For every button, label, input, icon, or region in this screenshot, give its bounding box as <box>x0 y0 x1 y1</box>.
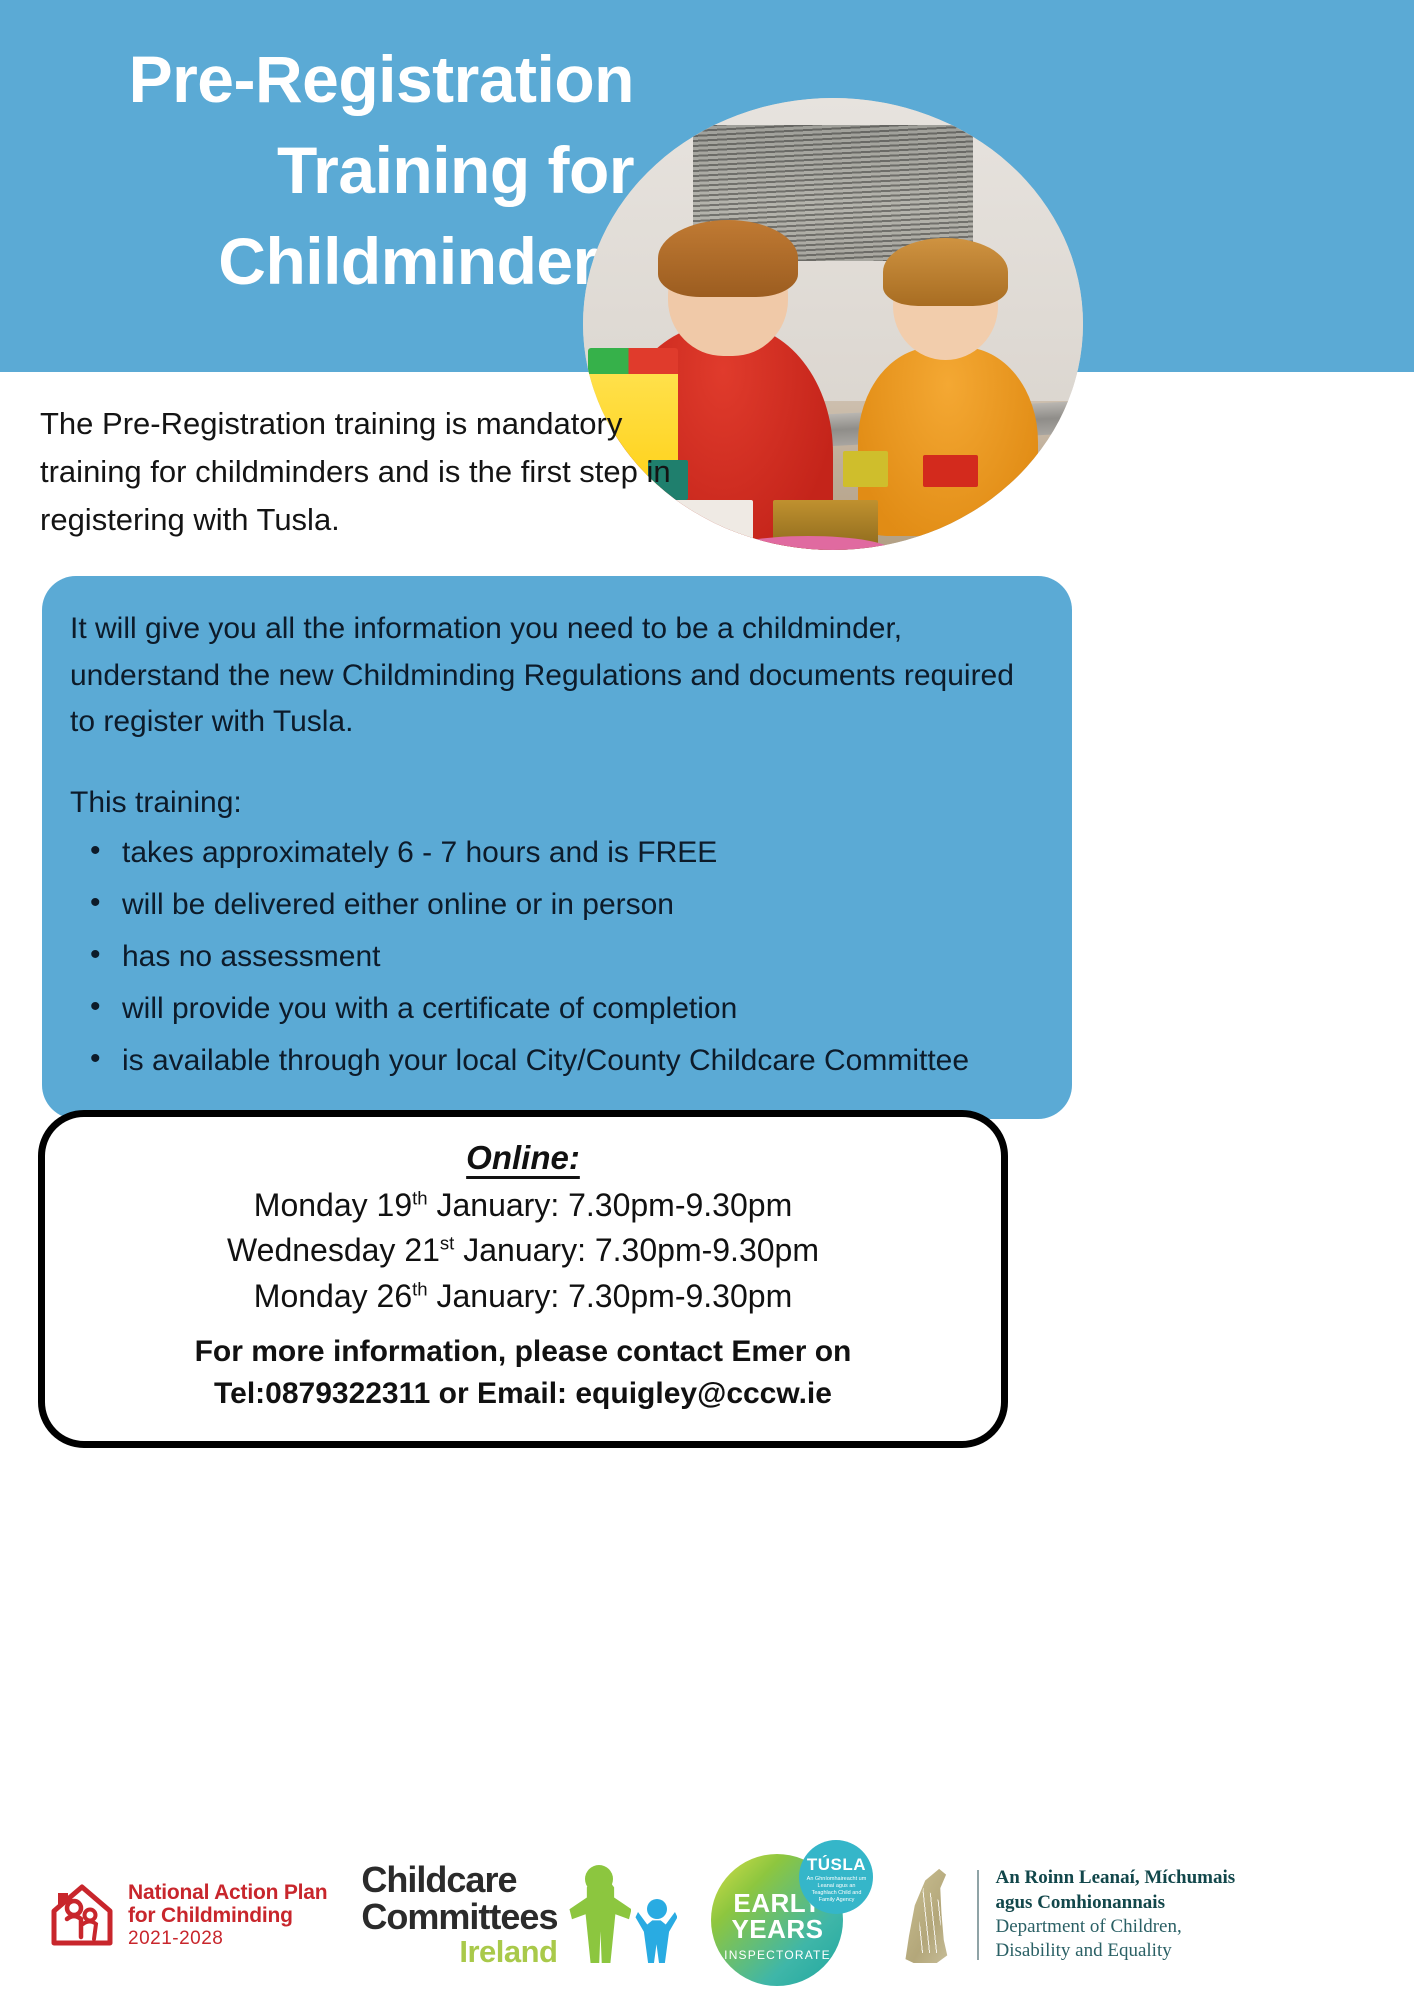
session-time: 7.30pm-9.30pm <box>595 1232 819 1268</box>
contact-instruction: For more information, please contact Eme… <box>75 1331 971 1373</box>
session-day: Wednesday <box>227 1232 395 1268</box>
irish-harp-icon <box>905 1867 963 1963</box>
gov-line-1: An Roinn Leanaí, Míchumais <box>995 1866 1235 1890</box>
schedule-heading: Online: <box>75 1139 971 1177</box>
page-title-line-1: Pre-Registration <box>24 34 634 125</box>
session-ordinal: th <box>412 1278 427 1299</box>
page-title: Pre-Registration Training for Childminde… <box>24 34 634 307</box>
list-item: takes approximately 6 - 7 hours and is F… <box>70 829 1038 877</box>
photo-toy-white-train <box>673 500 753 545</box>
page-title-line-2: Training for <box>24 125 634 216</box>
cci-line-2: Committees <box>361 1899 557 1936</box>
nap-line-2: for Childminding <box>128 1904 327 1928</box>
gov-line-3: Department of Children, <box>995 1915 1235 1939</box>
page-title-line-3: Childminders <box>24 216 634 307</box>
cci-text: Childcare Committees Ireland <box>361 1862 557 1967</box>
tusla-badge-subtitle: An Ghníomhaireacht um Leanaí agus an Tea… <box>799 1876 873 1904</box>
session-date: 26 <box>377 1278 413 1314</box>
gov-text: An Roinn Leanaí, Míchumais agus Comhiona… <box>995 1866 1235 1963</box>
schedule-session-row: Wednesday 21st January: 7.30pm-9.30pm <box>75 1228 971 1273</box>
nap-line-3: 2021-2028 <box>128 1928 327 1949</box>
nap-text: National Action Plan for Childminding 20… <box>128 1881 327 1949</box>
gov-divider <box>977 1870 979 1960</box>
list-item: has no assessment <box>70 933 1038 981</box>
footer-logos: National Action Plan for Childminding 20… <box>0 1830 1414 2000</box>
session-date: 19 <box>377 1187 413 1223</box>
national-action-plan-logo: National Action Plan for Childminding 20… <box>46 1879 327 1951</box>
photo-child-orange-hair <box>883 238 1008 306</box>
intro-paragraph: The Pre-Registration training is mandato… <box>40 400 680 544</box>
government-department-logo: An Roinn Leanaí, Míchumais agus Comhiona… <box>905 1866 1235 1963</box>
gov-line-2: agus Comhionannais <box>995 1891 1235 1915</box>
info-lead-text: This training: <box>70 780 1038 825</box>
session-month: January <box>436 1187 550 1223</box>
list-item: will be delivered either online or in pe… <box>70 881 1038 929</box>
tusla-early-years-inspectorate-logo: EARLY YEARS INSPECTORATE TÚSLA An Ghníom… <box>711 1840 879 1990</box>
photo-child-red-hair <box>658 220 798 297</box>
schedule-session-row: Monday 19th January: 7.30pm-9.30pm <box>75 1183 971 1228</box>
list-item: is available through your local City/Cou… <box>70 1037 1038 1085</box>
gov-line-4: Disability and Equality <box>995 1939 1235 1963</box>
photo-toy-red-wagon <box>923 455 978 487</box>
session-day: Monday <box>254 1187 368 1223</box>
cci-line-1: Childcare <box>361 1862 557 1899</box>
session-month: January <box>436 1278 550 1314</box>
cci-line-3: Ireland <box>361 1936 557 1968</box>
adult-and-child-icon <box>563 1867 681 1963</box>
info-spacer <box>70 746 1038 780</box>
session-time: 7.30pm-9.30pm <box>568 1187 792 1223</box>
child-figure-head-icon <box>647 1899 667 1919</box>
contact-details[interactable]: Tel:0879322311 or Email: equigley@cccw.i… <box>75 1373 971 1415</box>
session-month: January <box>463 1232 577 1268</box>
schedule-session-row: Monday 26th January: 7.30pm-9.30pm <box>75 1274 971 1319</box>
list-item: will provide you with a certificate of c… <box>70 985 1038 1033</box>
photo-toy-green-engine <box>843 451 888 487</box>
training-bullet-list: takes approximately 6 - 7 hours and is F… <box>70 829 1038 1085</box>
session-ordinal: th <box>412 1187 427 1208</box>
early-years-line-3: INSPECTORATE <box>711 1948 843 1962</box>
schedule-box: Online: Monday 19th January: 7.30pm-9.30… <box>38 1110 1008 1448</box>
nap-line-1: National Action Plan <box>128 1881 327 1905</box>
tusla-badge-wordmark: TÚSLA <box>799 1856 873 1873</box>
info-box: It will give you all the information you… <box>42 576 1072 1119</box>
house-family-icon <box>46 1879 118 1951</box>
tusla-badge: TÚSLA An Ghníomhaireacht um Leanaí agus … <box>799 1840 873 1914</box>
session-ordinal: st <box>440 1233 454 1254</box>
childcare-committees-ireland-logo: Childcare Committees Ireland <box>361 1862 681 1967</box>
session-day: Monday <box>254 1278 368 1314</box>
session-date: 21 <box>404 1232 440 1268</box>
session-time: 7.30pm-9.30pm <box>568 1278 792 1314</box>
early-years-line-2: YEARS <box>711 1916 843 1943</box>
info-paragraph: It will give you all the information you… <box>70 606 1038 746</box>
photo-child-orange-body <box>858 347 1038 537</box>
